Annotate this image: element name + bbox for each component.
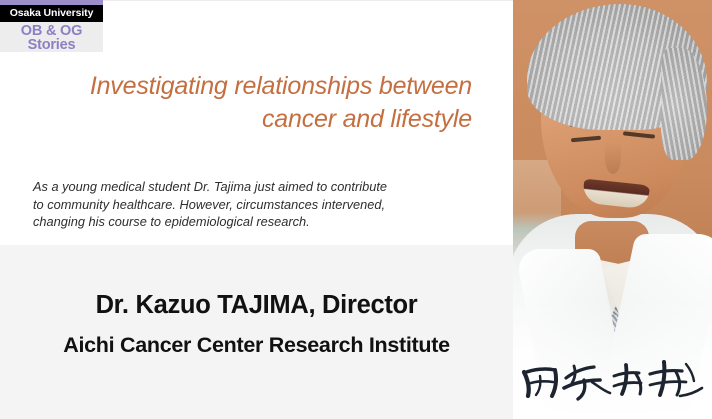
subject-portrait-photo — [513, 0, 712, 419]
photo-bottom-fade — [513, 299, 712, 419]
subject-affiliation: Aichi Cancer Center Research Institute — [0, 328, 513, 362]
lead-line-3: changing his course to epidemiological r… — [33, 213, 475, 231]
headline-line-2: cancer and lifestyle — [40, 103, 472, 136]
nose — [605, 142, 621, 174]
logo-university-name: Osaka University — [0, 5, 103, 22]
subject-name-title: Dr. Kazuo TAJIMA, Director — [0, 288, 513, 322]
lead-line-1: As a young medical student Dr. Tajima ju… — [33, 178, 475, 196]
logo-series-line2: Stories — [0, 37, 103, 53]
ob-og-stories-profile-card: Osaka University OB & OG Stories Investi… — [0, 0, 712, 419]
article-headline: Investigating relationships between canc… — [40, 70, 472, 136]
article-lead-paragraph: As a young medical student Dr. Tajima ju… — [33, 178, 475, 231]
lead-line-2: to community healthcare. However, circum… — [33, 196, 475, 214]
subject-name-block: Dr. Kazuo TAJIMA, Director Aichi Cancer … — [0, 288, 513, 362]
series-logo[interactable]: Osaka University OB & OG Stories — [0, 0, 103, 52]
headline-line-1: Investigating relationships between — [40, 70, 472, 103]
